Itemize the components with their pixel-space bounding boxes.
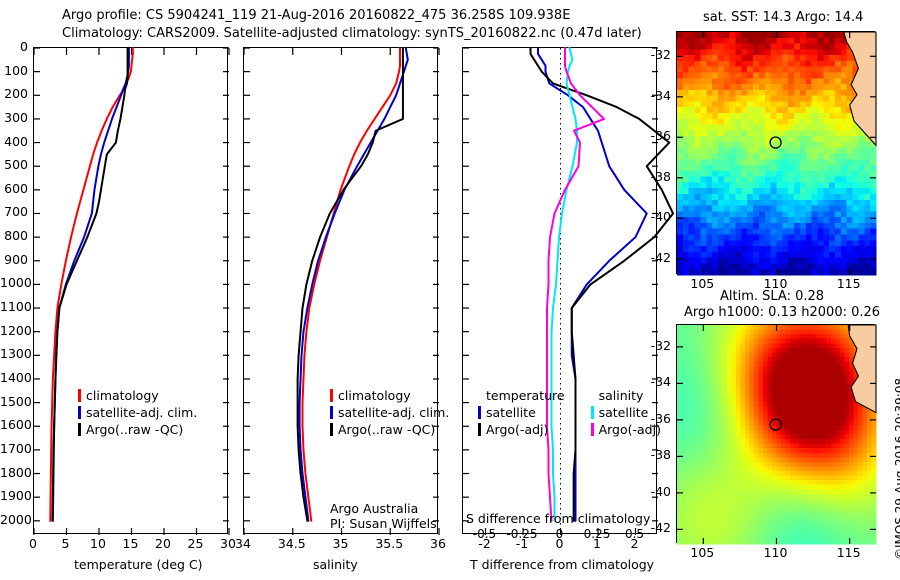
axis-tick-label: 34.5 — [270, 536, 314, 551]
legend-item: satellite-adj. clim. — [330, 405, 449, 420]
sst-map-yaxis-ticks: -32-34-36-38-40-42 — [643, 31, 676, 274]
difference-axis-label-bottom: T difference from climatology — [470, 557, 654, 572]
imos-credit: ©IMOS 29-Aug-2016 20:39:08 — [893, 378, 900, 560]
map-x-tick-label: 115 — [827, 276, 871, 291]
depth-tick-label: 200 — [0, 86, 28, 101]
depth-tick-label: 1900 — [0, 488, 28, 503]
map-y-tick-label: -34 — [643, 374, 671, 389]
map-y-tick-label: -32 — [643, 47, 671, 62]
legend-item: climatology — [78, 388, 197, 403]
legend-label: satellite-adj. clim. — [338, 405, 449, 420]
axis-tick-label: 35 — [319, 536, 363, 551]
depth-tick-label: 1500 — [0, 394, 28, 409]
depth-tick-label: 500 — [0, 157, 28, 172]
title-line-1: Argo profile: CS 5904241_119 21-Aug-2016… — [62, 8, 570, 23]
legend-swatch-climatology — [78, 389, 81, 402]
map-y-tick-label: -42 — [643, 250, 671, 265]
program-label: Argo Australia — [330, 501, 418, 516]
temperature-legend: climatology satellite-adj. clim. Argo(..… — [78, 388, 197, 437]
legend-item: Argo(..raw -QC) — [78, 422, 197, 437]
map-y-tick-label: -36 — [643, 411, 671, 426]
pi-label: PI: Susan Wijffels — [330, 516, 437, 531]
legend-label: Argo(..raw -QC) — [86, 422, 183, 437]
difference-legend-temperature-group: temperature satellite Argo(-adj) — [478, 388, 565, 437]
title-line-2: Climatology: CARS2009. Satellite-adjuste… — [62, 26, 642, 41]
map-x-tick-label: 110 — [754, 545, 798, 560]
legend-item: satellite-adj. clim. — [78, 405, 197, 420]
depth-tick-label: 900 — [0, 252, 28, 267]
legend-label: climatology — [86, 388, 159, 403]
depth-tick-label: 1800 — [0, 465, 28, 480]
temperature-xaxis-ticks: 051015202530 — [33, 536, 228, 554]
difference-panel — [462, 47, 657, 534]
depth-tick-label: 1000 — [0, 275, 28, 290]
depth-tick-label: 0 — [0, 39, 28, 54]
depth-tick-label: 1400 — [0, 370, 28, 385]
legend-swatch-argo — [78, 423, 81, 436]
sla-map-title-line-1: Altim. SLA: 0.28 — [720, 289, 824, 304]
depth-tick-label: 1600 — [0, 417, 28, 432]
legend-swatch-salinity-satellite — [591, 406, 594, 419]
sst-map — [676, 31, 875, 274]
map-y-tick-label: -38 — [643, 169, 671, 184]
map-y-tick-label: -42 — [643, 520, 671, 535]
salinity-xaxis-ticks: 3434.53535.536 — [243, 536, 438, 554]
map-y-tick-label: -40 — [643, 209, 671, 224]
depth-tick-label: 1200 — [0, 323, 28, 338]
temperature-axis-label: temperature (deg C) — [74, 557, 203, 572]
legend-swatch-satellite-adj — [78, 406, 81, 419]
legend-heading: temperature — [486, 388, 565, 403]
map-y-tick-label: -34 — [643, 88, 671, 103]
legend-swatch-satellite-adj — [330, 406, 333, 419]
legend-label: climatology — [338, 388, 411, 403]
map-x-tick-label: 115 — [827, 545, 871, 560]
legend-swatch-salinity-argo — [591, 423, 594, 436]
legend-label: satellite-adj. clim. — [86, 405, 197, 420]
temperature-panel — [33, 47, 228, 534]
temperature-yaxis-ticks: 0100200300400500600700800900100011001200… — [0, 47, 33, 534]
sst-map-title: sat. SST: 14.3 Argo: 14.4 — [703, 10, 863, 25]
salinity-axis-label: salinity — [313, 557, 358, 572]
map-y-tick-label: -32 — [643, 338, 671, 353]
map-y-tick-label: -40 — [643, 484, 671, 499]
depth-tick-label: 2000 — [0, 512, 28, 527]
map-y-tick-label: -38 — [643, 447, 671, 462]
map-y-tick-label: -36 — [643, 128, 671, 143]
legend-label: satellite — [599, 405, 649, 420]
difference-xaxis-ticks-top: -0.5-0.2500.250.5 — [462, 527, 657, 543]
depth-tick-label: 600 — [0, 181, 28, 196]
difference-legend: temperature satellite Argo(-adj) salinit… — [478, 388, 661, 437]
axis-tick-label: 35.5 — [367, 536, 411, 551]
salinity-panel — [243, 47, 438, 534]
depth-tick-label: 1300 — [0, 346, 28, 361]
legend-swatch-temperature-satellite — [478, 406, 481, 419]
axis-tick-label: 34 — [221, 536, 265, 551]
sla-map-xaxis-ticks: 105110115 — [676, 545, 875, 561]
map-x-tick-label: 105 — [680, 545, 724, 560]
depth-tick-label: 300 — [0, 110, 28, 125]
legend-item: Argo(-adj) — [478, 422, 565, 437]
sla-map-yaxis-ticks: -32-34-36-38-40-42 — [643, 324, 676, 543]
legend-swatch-argo — [330, 423, 333, 436]
legend-item: Argo(..raw -QC) — [330, 422, 449, 437]
salinity-legend: climatology satellite-adj. clim. Argo(..… — [330, 388, 449, 437]
legend-item: climatology — [330, 388, 449, 403]
depth-tick-label: 700 — [0, 204, 28, 219]
sla-map — [676, 324, 875, 543]
map-x-tick-label: 105 — [680, 276, 724, 291]
depth-tick-label: 100 — [0, 63, 28, 78]
legend-label: satellite — [486, 405, 536, 420]
depth-tick-label: 1100 — [0, 299, 28, 314]
depth-tick-label: 1700 — [0, 441, 28, 456]
legend-swatch-temperature-argo — [478, 423, 481, 436]
depth-tick-label: 800 — [0, 228, 28, 243]
difference-axis-label-top: S difference from climatology — [466, 511, 650, 526]
depth-tick-label: 400 — [0, 134, 28, 149]
legend-item: satellite — [478, 405, 565, 420]
legend-label: Argo(..raw -QC) — [338, 422, 435, 437]
legend-label: Argo(-adj) — [486, 422, 548, 437]
legend-swatch-climatology — [330, 389, 333, 402]
axis-tick-label: 36 — [416, 536, 460, 551]
sla-map-title-line-2: Argo h1000: 0.13 h2000: 0.26 — [684, 305, 880, 320]
